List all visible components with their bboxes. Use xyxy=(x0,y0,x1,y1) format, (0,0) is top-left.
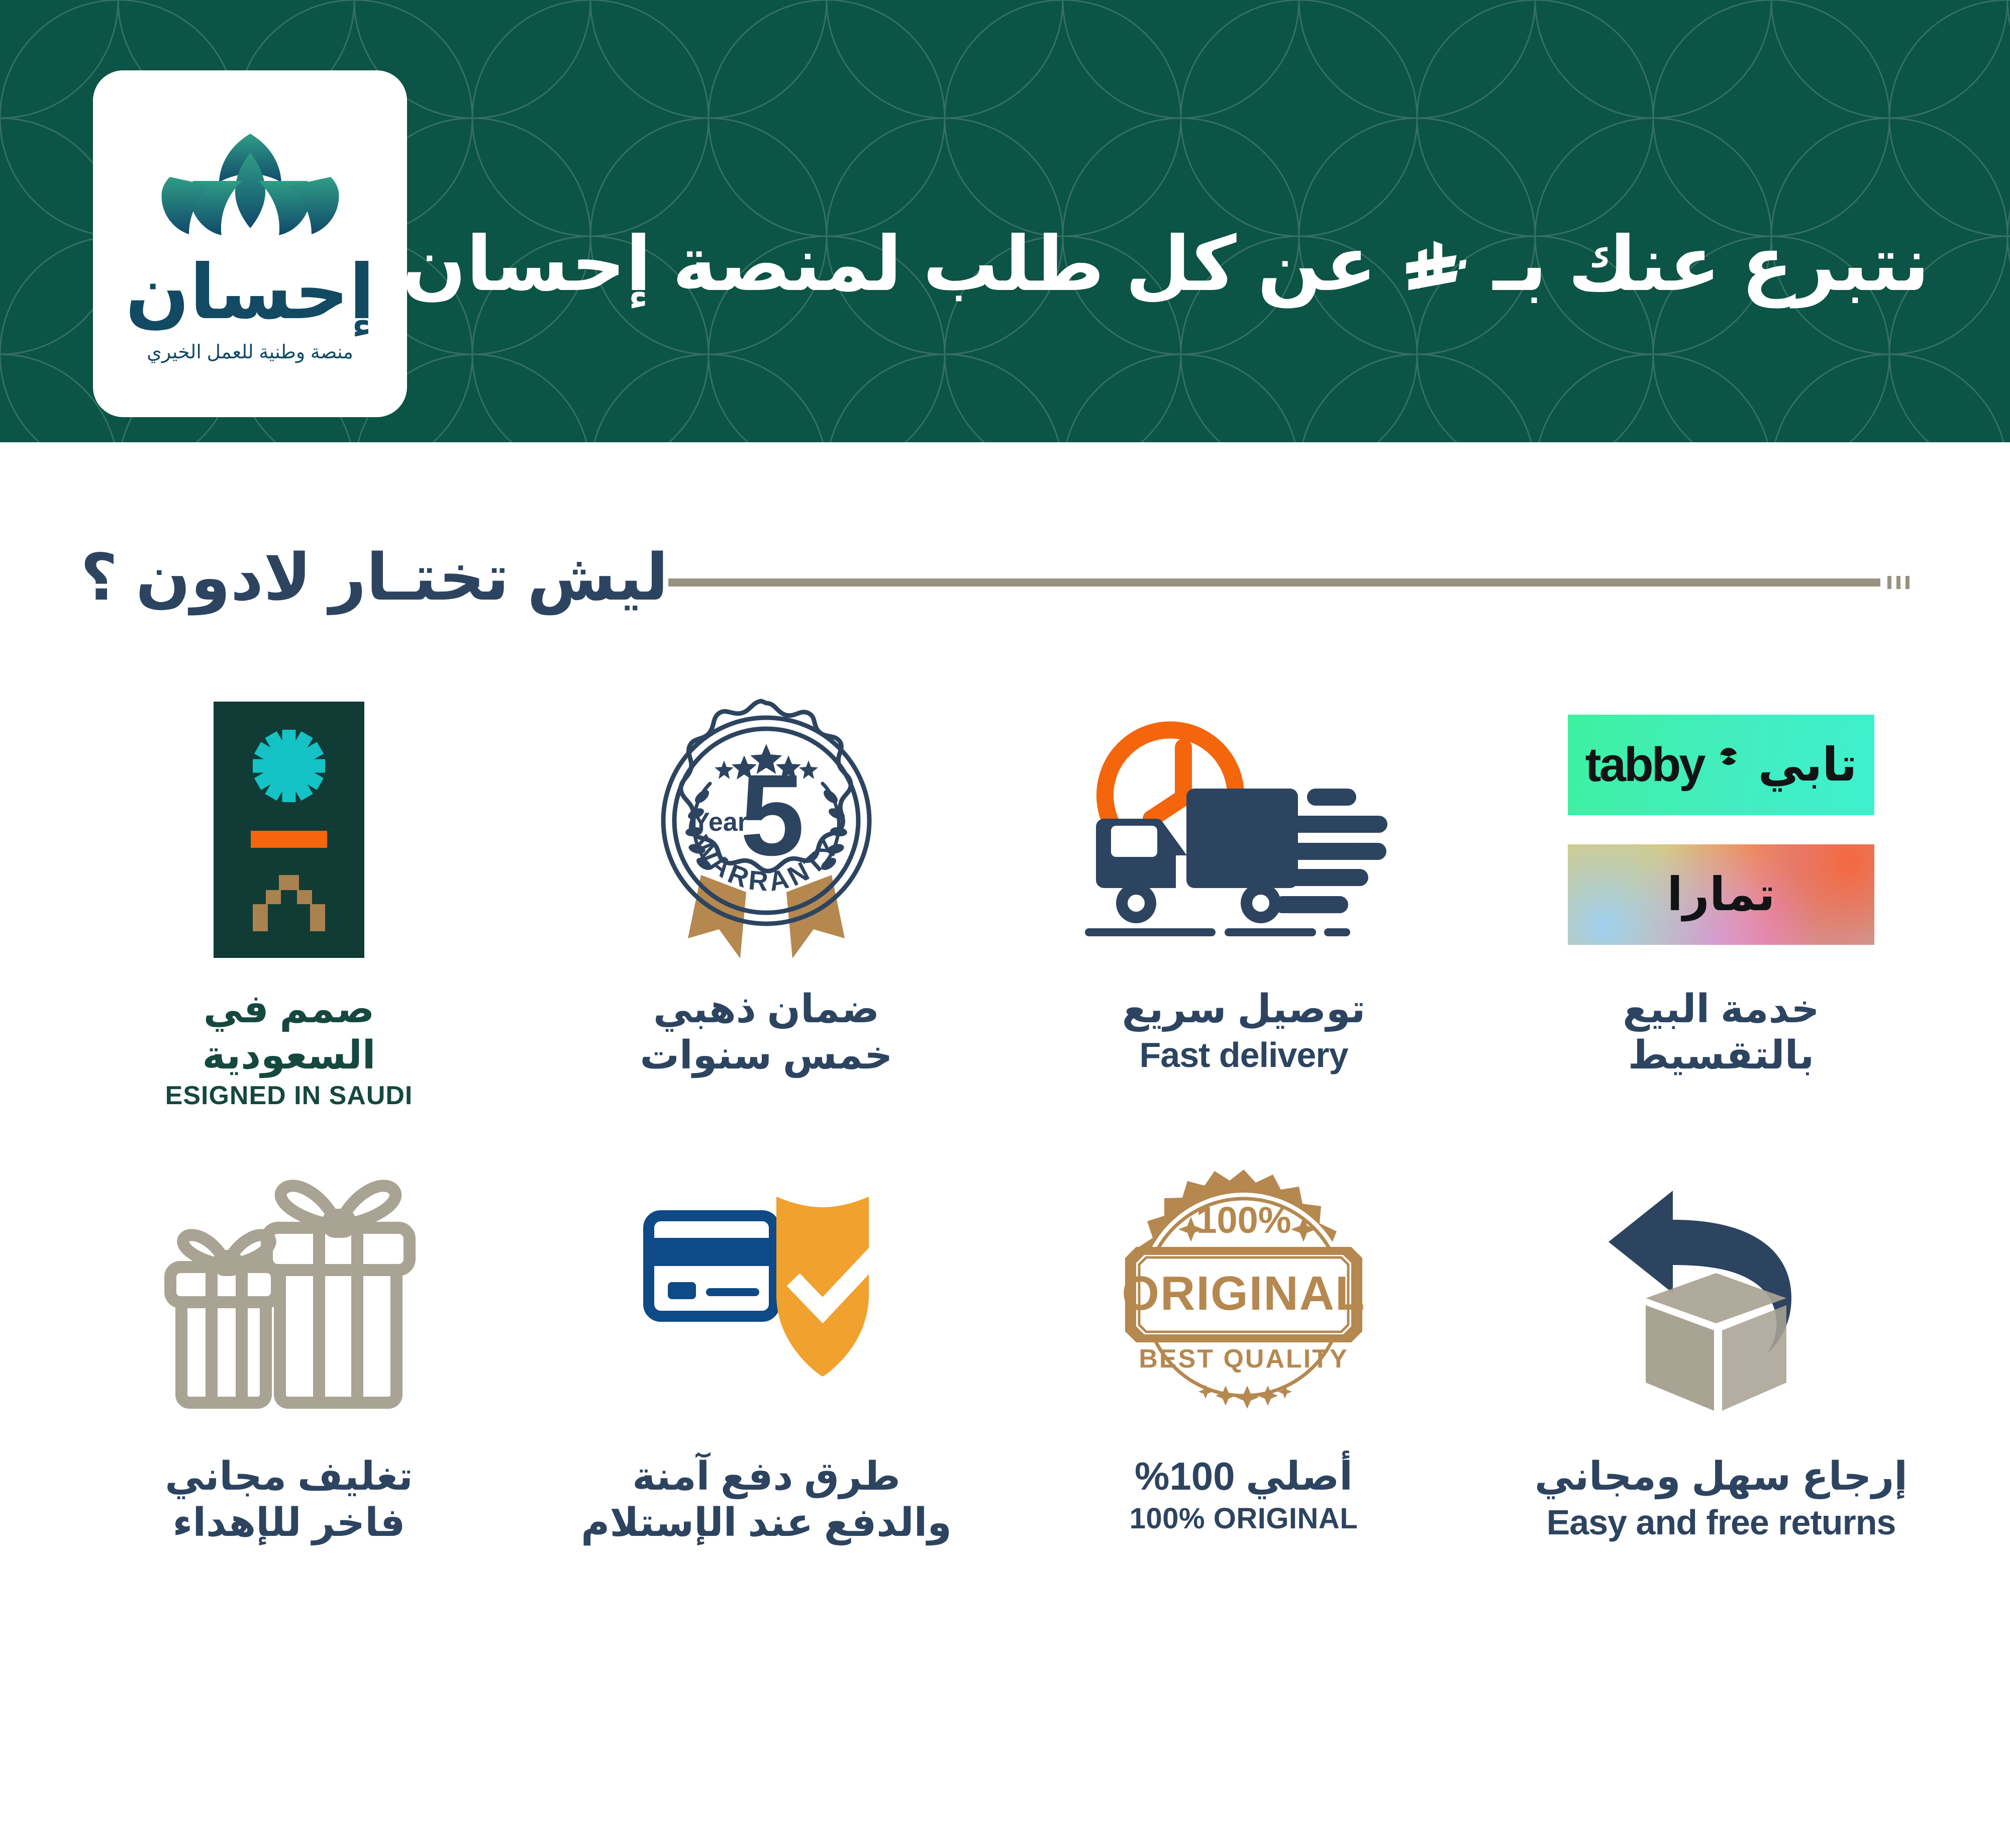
designed-in-saudi-plaque xyxy=(214,702,364,958)
return-box-arrow-icon xyxy=(1585,1166,1857,1428)
feature-original-100-labels: أصلي 100% 100% ORIGINAL xyxy=(1130,1453,1358,1536)
stamp-middle-text: ORIGINAL xyxy=(1122,1267,1365,1320)
section-header: ليش تختـار لادون ؟ xyxy=(0,442,2010,614)
feature-installments-art: tabby تابي تمارا xyxy=(1568,679,1874,981)
ihsan-logo-wordmark: إحسان xyxy=(125,254,375,330)
headline-text-before: نتبرع عنك بـ xyxy=(1493,222,1930,306)
promo-banner: نتبرع عنك بـ عن كل طلب لمنصة إحسان xyxy=(0,0,2010,442)
tabby-star-icon xyxy=(1719,747,1738,766)
stamp-top-text: 100% xyxy=(1196,1199,1291,1241)
feature-secure-payment-label-ar: طرق دفع آمنة والدفع عند الإستلام xyxy=(581,1453,952,1545)
ihsan-leaf-mark-icon xyxy=(150,125,351,249)
page-title: ليش تختـار لادون ؟ xyxy=(80,543,668,614)
feature-fast-delivery: توصيل سريع Fast delivery xyxy=(1005,679,1482,1111)
feature-installments-labels: خدمة البيع بالتقسيط xyxy=(1623,986,1820,1078)
feature-installments: tabby تابي تمارا خدمة البيع بالتقسيط xyxy=(1482,679,1960,1111)
ihsan-logo-tagline: منصة وطنية للعمل الخيري xyxy=(147,341,353,363)
card-shield-check-icon xyxy=(626,1177,907,1418)
feature-gold-warranty: 5 Year WARRANTY ضمان ذهبي خمس سنوات xyxy=(528,679,1005,1111)
divider-dashes xyxy=(1887,576,1909,589)
saudi-stepped-arch-icon xyxy=(249,875,329,931)
feature-free-returns-label-en: Easy and free returns xyxy=(1535,1501,1907,1543)
feature-free-gift-wrap-labels: تغليف مجاني فاخر للإهداء xyxy=(165,1453,413,1545)
feature-original-100-label-en: 100% ORIGINAL xyxy=(1130,1501,1358,1536)
feature-fast-delivery-label-en: Fast delivery xyxy=(1122,1034,1366,1076)
feature-free-returns-art xyxy=(1585,1146,1857,1448)
feature-secure-payment-labels: طرق دفع آمنة والدفع عند الإستلام xyxy=(581,1453,952,1545)
payment-provider-logos: tabby تابي تمارا xyxy=(1568,715,1874,945)
feature-fast-delivery-art xyxy=(1068,679,1420,981)
headline-text-after: عن كل طلب لمنصة إحسان xyxy=(402,222,1377,306)
feature-designed-in-saudi-art xyxy=(214,679,364,981)
feature-designed-in-saudi-label-ar: صمم في السعودية xyxy=(165,986,413,1078)
feature-fast-delivery-label-ar: توصيل سريع xyxy=(1122,986,1366,1032)
tabby-arabic-wordmark: تابي xyxy=(1758,742,1857,788)
feature-designed-in-saudi: صمم في السعودية ESIGNED IN SAUDI xyxy=(50,679,528,1111)
tamara-logo: تمارا xyxy=(1568,844,1874,945)
features-grid: tabby تابي تمارا خدمة البيع بالتقسيط xyxy=(0,614,2010,1546)
ihsan-logo-card: إحسان منصة وطنية للعمل الخيري xyxy=(93,70,407,417)
feature-free-gift-wrap: تغليف مجاني فاخر للإهداء xyxy=(50,1146,528,1545)
tabby-latin-wordmark: tabby xyxy=(1585,741,1704,789)
feature-gold-warranty-label-ar: ضمان ذهبي خمس سنوات xyxy=(640,986,893,1078)
saudi-asterisk-icon xyxy=(251,728,327,804)
title-divider xyxy=(668,576,1909,589)
feature-free-returns-label-ar: إرجاع سهل ومجاني xyxy=(1535,1453,1907,1499)
feature-installments-label-ar: خدمة البيع بالتقسيط xyxy=(1623,986,1820,1078)
saudi-orange-bar-icon xyxy=(251,831,327,848)
stamp-bottom-text: BEST QUALITY xyxy=(1139,1344,1348,1374)
feature-original-100: 100% ORIGINAL BEST QUALITY أصلي 100% 100… xyxy=(1005,1146,1482,1545)
feature-original-100-label-ar: أصلي 100% xyxy=(1130,1453,1358,1499)
feature-gold-warranty-art: 5 Year WARRANTY xyxy=(626,679,907,981)
warranty-unit: Year xyxy=(692,808,748,837)
five-year-warranty-badge-icon: 5 Year WARRANTY xyxy=(626,689,907,970)
divider-bar xyxy=(668,578,1880,587)
feature-original-100-art: 100% ORIGINAL BEST QUALITY xyxy=(1108,1146,1379,1448)
feature-secure-payment: طرق دفع آمنة والدفع عند الإستلام xyxy=(528,1146,1005,1545)
tamara-arabic-wordmark: تمارا xyxy=(1667,871,1775,918)
feature-designed-in-saudi-label-en: ESIGNED IN SAUDI xyxy=(165,1080,413,1111)
original-quality-stamp-icon: 100% ORIGINAL BEST QUALITY xyxy=(1108,1166,1379,1428)
feature-designed-in-saudi-labels: صمم في السعودية ESIGNED IN SAUDI xyxy=(165,986,413,1111)
gift-boxes-icon xyxy=(148,1172,430,1423)
tabby-logo: tabby تابي xyxy=(1568,715,1874,815)
feature-free-gift-wrap-label-ar: تغليف مجاني فاخر للإهداء xyxy=(165,1453,413,1545)
feature-free-returns-labels: إرجاع سهل ومجاني Easy and free returns xyxy=(1535,1453,1907,1543)
saudi-riyal-symbol-icon xyxy=(1401,239,1468,299)
feature-gold-warranty-labels: ضمان ذهبي خمس سنوات xyxy=(640,986,893,1078)
delivery-truck-clock-icon xyxy=(1068,699,1420,960)
feature-free-returns: إرجاع سهل ومجاني Easy and free returns xyxy=(1482,1146,1960,1545)
feature-secure-payment-art xyxy=(626,1146,907,1448)
feature-free-gift-wrap-art xyxy=(148,1146,430,1448)
feature-fast-delivery-labels: توصيل سريع Fast delivery xyxy=(1122,986,1366,1076)
